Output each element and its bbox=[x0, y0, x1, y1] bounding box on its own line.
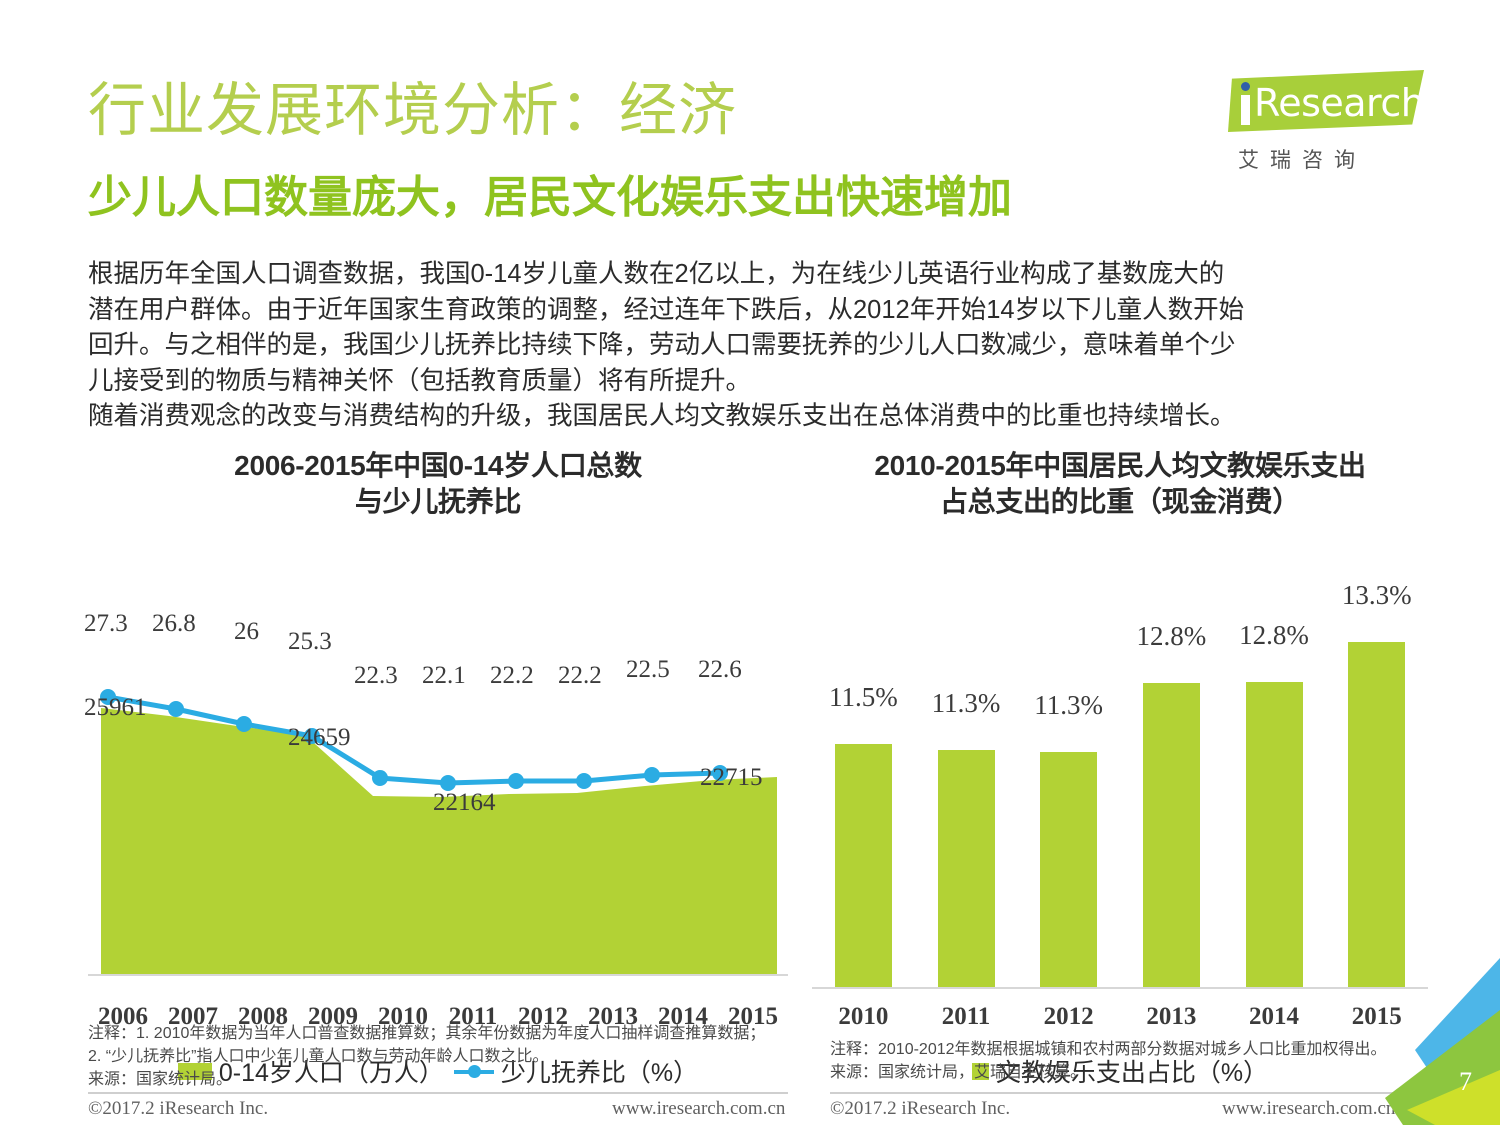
ratio-label-2012: 22.2 bbox=[490, 662, 534, 690]
bar-column-2014: 12.8% bbox=[1223, 589, 1326, 987]
ratio-label-2013: 22.2 bbox=[558, 662, 602, 690]
left-chart-title-line-1: 2006-2015年中国0-14岁人口总数 bbox=[88, 448, 788, 484]
bar-rect-2015 bbox=[1348, 642, 1405, 987]
ratio-label-2014: 22.5 bbox=[626, 656, 670, 684]
intro-line-5: 随着消费观念的改变与消费结构的升级，我国居民人均文教娱乐支出在总体消费中的比重也… bbox=[88, 399, 1408, 435]
left-footer-copyright: ©2017.2 iResearch Inc. bbox=[88, 1098, 268, 1120]
page-subtitle: 少儿人口数量庞大，居民文化娱乐支出快速增加 bbox=[88, 172, 1012, 224]
bar-rect-2012 bbox=[1040, 752, 1097, 987]
bar-column-2013: 12.8% bbox=[1120, 589, 1223, 987]
iresearch-logo: Research 艾瑞咨询 bbox=[1228, 70, 1438, 180]
ratio-label-2011: 22.1 bbox=[422, 662, 466, 690]
left-chart-title-line-2: 与少儿抚养比 bbox=[88, 484, 788, 520]
right-chart-panel: 2010-2015年中国居民人均文教娱乐支出 占总支出的比重（现金消费） 11.… bbox=[812, 448, 1428, 1089]
logo-wordmark: Research bbox=[1254, 81, 1424, 125]
right-chart-title-line-1: 2010-2015年中国居民人均文教娱乐支出 bbox=[812, 448, 1428, 484]
left-footer-url[interactable]: www.iresearch.com.cn bbox=[612, 1098, 785, 1120]
left-footer-divider bbox=[88, 1092, 788, 1094]
page-number: 7 bbox=[1459, 1067, 1472, 1097]
ratio-label-2009: 25.3 bbox=[288, 628, 332, 656]
ratio-label-2008: 26 bbox=[234, 618, 259, 646]
ratio-label-2007: 26.8 bbox=[152, 610, 196, 638]
right-note-source: 来源：国家统计局，艾瑞自主核算。 bbox=[830, 1061, 1430, 1084]
logo-i-dot-icon bbox=[1241, 82, 1250, 91]
bar-column-2010: 11.5% bbox=[812, 589, 915, 987]
bar-column-2015: 13.3% bbox=[1325, 589, 1428, 987]
intro-paragraph: 根据历年全国人口调查数据，我国0-14岁儿童人数在2亿以上，为在线少儿英语行业构… bbox=[88, 257, 1408, 435]
right-note-line-1: 注释：2010-2012年数据根据城镇和农村两部分数据对城乡人口比重加权得出。 bbox=[830, 1038, 1430, 1061]
population-label-2010: 22164 bbox=[433, 789, 496, 817]
bar-value-2010: 11.5% bbox=[829, 682, 898, 713]
population-area-line-chart: 27.3 26.8 26 25.3 22.3 22.1 22.2 22.2 22… bbox=[88, 534, 788, 989]
right-x-tick-2011: 2011 bbox=[915, 1003, 1018, 1031]
logo-i-stem-icon bbox=[1241, 95, 1250, 125]
bar-rect-2013 bbox=[1143, 683, 1200, 987]
left-chart-title: 2006-2015年中国0-14岁人口总数 与少儿抚养比 bbox=[88, 448, 788, 520]
bar-column-2012: 11.3% bbox=[1017, 589, 1120, 987]
bar-value-2013: 12.8% bbox=[1136, 621, 1206, 652]
bar-column-2011: 11.3% bbox=[915, 589, 1018, 987]
right-x-tick-2010: 2010 bbox=[812, 1003, 915, 1031]
bar-rect-2011 bbox=[938, 750, 995, 987]
right-chart-x-axis: 2010 2011 2012 2013 2014 2015 bbox=[812, 1003, 1428, 1031]
population-area-series bbox=[101, 708, 777, 974]
right-x-tick-2012: 2012 bbox=[1017, 1003, 1120, 1031]
bar-value-2015: 13.3% bbox=[1342, 580, 1412, 611]
right-footer-url[interactable]: www.iresearch.com.cn bbox=[1222, 1098, 1395, 1120]
right-chart-title: 2010-2015年中国居民人均文教娱乐支出 占总支出的比重（现金消费） bbox=[812, 448, 1428, 520]
right-chart-title-line-2: 占总支出的比重（现金消费） bbox=[812, 484, 1428, 520]
ratio-label-2010: 22.3 bbox=[354, 662, 398, 690]
population-label-2009: 24659 bbox=[288, 724, 351, 752]
population-label-2006: 25961 bbox=[84, 694, 147, 722]
right-footer-divider bbox=[830, 1092, 1420, 1094]
education-spending-bar-chart: 11.5% 11.3% 11.3% 12.8% 12.8% 13.3% bbox=[812, 534, 1428, 989]
right-footer-copyright: ©2017.2 iResearch Inc. bbox=[830, 1098, 1010, 1120]
bar-group: 11.5% 11.3% 11.3% 12.8% 12.8% 13.3% bbox=[812, 589, 1428, 989]
population-label-2015: 22715 bbox=[700, 764, 763, 792]
page-title: 行业发展环境分析：经济 bbox=[88, 78, 737, 144]
bar-value-2011: 11.3% bbox=[932, 688, 1001, 719]
ratio-label-2006: 27.3 bbox=[84, 610, 128, 638]
left-note-source: 来源：国家统计局。 bbox=[88, 1068, 788, 1091]
ratio-label-2015: 22.6 bbox=[698, 656, 742, 684]
left-note-line-1: 注释：1. 2010年数据为当年人口普查数据推算数；其余年份数据为年度人口抽样调… bbox=[88, 1022, 788, 1045]
intro-line-1: 根据历年全国人口调查数据，我国0-14岁儿童人数在2亿以上，为在线少儿英语行业构… bbox=[88, 257, 1408, 293]
bar-rect-2014 bbox=[1246, 682, 1303, 987]
left-chart-svg bbox=[88, 534, 788, 989]
intro-line-3: 回升。与之相伴的是，我国少儿抚养比持续下降，劳动人口需要抚养的少儿人口数减少，意… bbox=[88, 328, 1408, 364]
page-header: 行业发展环境分析：经济 少儿人口数量庞大，居民文化娱乐支出快速增加 Resear… bbox=[0, 0, 1500, 235]
right-x-tick-2014: 2014 bbox=[1223, 1003, 1326, 1031]
bar-value-2014: 12.8% bbox=[1239, 620, 1309, 651]
intro-line-2: 潜在用户群体。由于近年国家生育政策的调整，经过连年下跌后，从2012年开始14岁… bbox=[88, 293, 1408, 329]
corner-decoration bbox=[1385, 950, 1500, 1125]
right-x-tick-2013: 2013 bbox=[1120, 1003, 1223, 1031]
logo-chinese-name: 艾瑞咨询 bbox=[1238, 144, 1366, 174]
left-chart-notes: 注释：1. 2010年数据为当年人口普查数据推算数；其余年份数据为年度人口抽样调… bbox=[88, 1022, 788, 1091]
left-note-line-2: 2. “少儿抚养比”指人口中少年儿童人口数与劳动年龄人口数之比。 bbox=[88, 1045, 788, 1068]
bar-value-2012: 11.3% bbox=[1034, 690, 1103, 721]
right-chart-notes: 注释：2010-2012年数据根据城镇和农村两部分数据对城乡人口比重加权得出。 … bbox=[830, 1038, 1430, 1084]
left-chart-panel: 2006-2015年中国0-14岁人口总数 与少儿抚养比 bbox=[88, 448, 788, 1089]
intro-line-4: 儿接受到的物质与精神关怀（包括教育质量）将有所提升。 bbox=[88, 364, 1408, 400]
bar-rect-2010 bbox=[835, 744, 892, 987]
